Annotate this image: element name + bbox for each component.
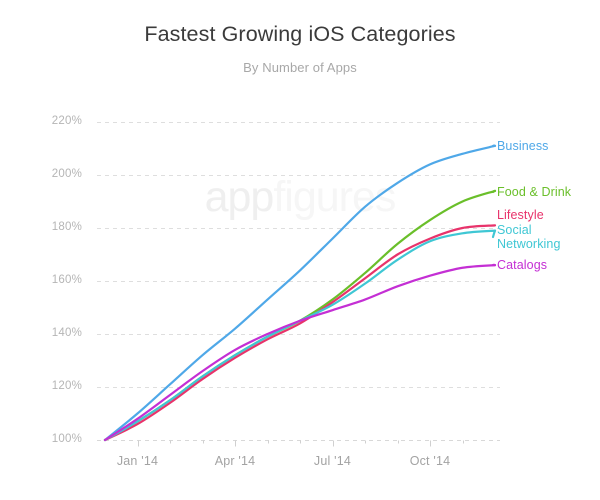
- x-axis-label-3: Oct '14: [385, 454, 475, 468]
- chart-container: Fastest Growing iOS Categories By Number…: [0, 0, 600, 500]
- x-axis-ticks: [139, 441, 464, 447]
- x-axis-label-2: Jul '14: [288, 454, 378, 468]
- legend-label-social-networking-line-0: Social: [497, 223, 561, 237]
- legend-label-food-drink[interactable]: Food & Drink: [497, 185, 571, 199]
- legend-label-business[interactable]: Business: [497, 139, 549, 153]
- gridlines: [97, 123, 500, 441]
- series-lines: [105, 146, 495, 440]
- x-axis-label-1: Apr '14: [190, 454, 280, 468]
- x-axis-label-0: Jan '14: [93, 454, 183, 468]
- legend-leader-food-drink: [493, 191, 495, 192]
- y-axis-label-200: 200%: [22, 168, 82, 180]
- y-axis-label-100: 100%: [22, 433, 82, 445]
- legend-leader-lines: [493, 146, 495, 265]
- legend-label-social-networking[interactable]: SocialNetworking: [497, 223, 561, 251]
- legend-label-social-networking-line-1: Networking: [497, 237, 561, 251]
- y-axis-label-160: 160%: [22, 274, 82, 286]
- y-axis-label-220: 220%: [22, 115, 82, 127]
- legend-label-lifestyle[interactable]: Lifestyle: [497, 208, 544, 222]
- y-axis-label-180: 180%: [22, 221, 82, 233]
- series-line-lifestyle: [105, 225, 495, 440]
- y-axis-label-120: 120%: [22, 380, 82, 392]
- series-line-catalogs: [105, 265, 495, 440]
- y-axis-label-140: 140%: [22, 327, 82, 339]
- legend-label-catalogs[interactable]: Catalogs: [497, 258, 547, 272]
- series-line-business: [105, 146, 495, 440]
